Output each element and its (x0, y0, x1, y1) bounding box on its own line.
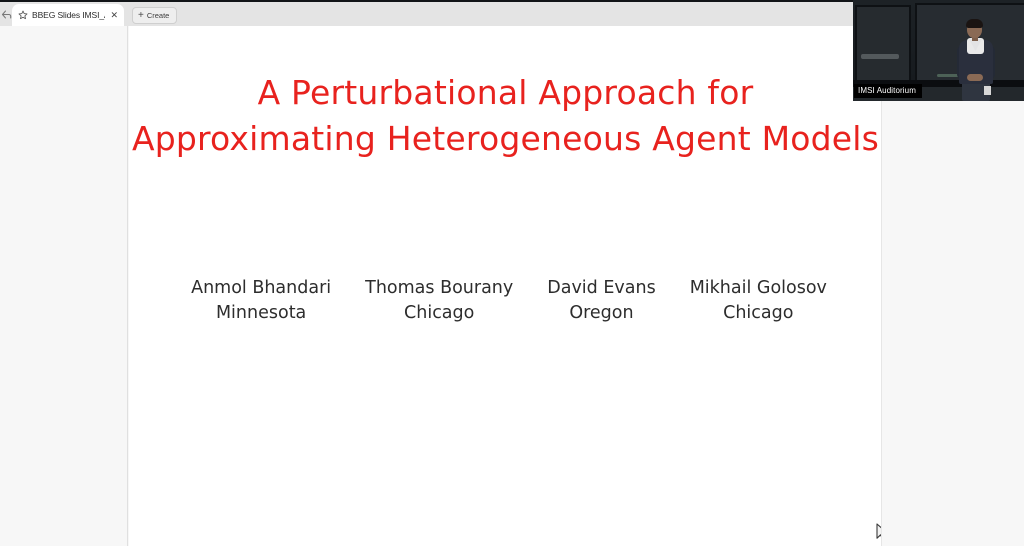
author-name: Mikhail Golosov (690, 276, 827, 301)
left-rail-panel (0, 26, 128, 546)
speaker-hands (967, 74, 983, 81)
speaker-badge (984, 86, 991, 95)
browser-tab[interactable]: BBEG Slides IMSI_Anm... ✕ (12, 4, 124, 26)
blackboard-left (855, 5, 911, 85)
plus-icon: + (138, 11, 144, 21)
close-icon[interactable]: ✕ (109, 10, 119, 21)
speaker-hair (966, 19, 983, 28)
slide-title: A Perturbational Approach for Approximat… (129, 70, 882, 162)
author-affiliation: Chicago (365, 301, 513, 326)
create-button[interactable]: + Create (132, 7, 177, 24)
author-entry: David Evans Oregon (547, 276, 655, 326)
author-entry: Mikhail Golosov Chicago (690, 276, 827, 326)
author-affiliation: Minnesota (191, 301, 331, 326)
video-overlay[interactable]: IMSI Auditorium (853, 0, 1024, 101)
author-name: Thomas Bourany (365, 276, 513, 301)
create-button-label: Create (147, 11, 170, 20)
author-name: Anmol Bhandari (191, 276, 331, 301)
author-affiliation: Oregon (547, 301, 655, 326)
author-list: Anmol Bhandari Minnesota Thomas Bourany … (169, 276, 849, 326)
right-rail-panel (882, 26, 1024, 546)
author-entry: Thomas Bourany Chicago (365, 276, 513, 326)
author-name: David Evans (547, 276, 655, 301)
slide-title-line-2: Approximating Heterogeneous Agent Models (129, 116, 882, 162)
back-arrow-icon[interactable] (0, 2, 12, 26)
mouse-pointer-icon (876, 523, 882, 542)
page-body: A Perturbational Approach for Approximat… (0, 26, 1024, 546)
browser-tab-title: BBEG Slides IMSI_Anm... (32, 10, 105, 20)
presentation-slide[interactable]: A Perturbational Approach for Approximat… (129, 26, 882, 546)
video-location-label: IMSI Auditorium (854, 84, 922, 98)
star-icon[interactable] (18, 10, 28, 20)
author-entry: Anmol Bhandari Minnesota (191, 276, 331, 326)
author-affiliation: Chicago (690, 301, 827, 326)
slide-title-line-1: A Perturbational Approach for (129, 70, 882, 116)
chalk-writing-left (861, 54, 899, 59)
